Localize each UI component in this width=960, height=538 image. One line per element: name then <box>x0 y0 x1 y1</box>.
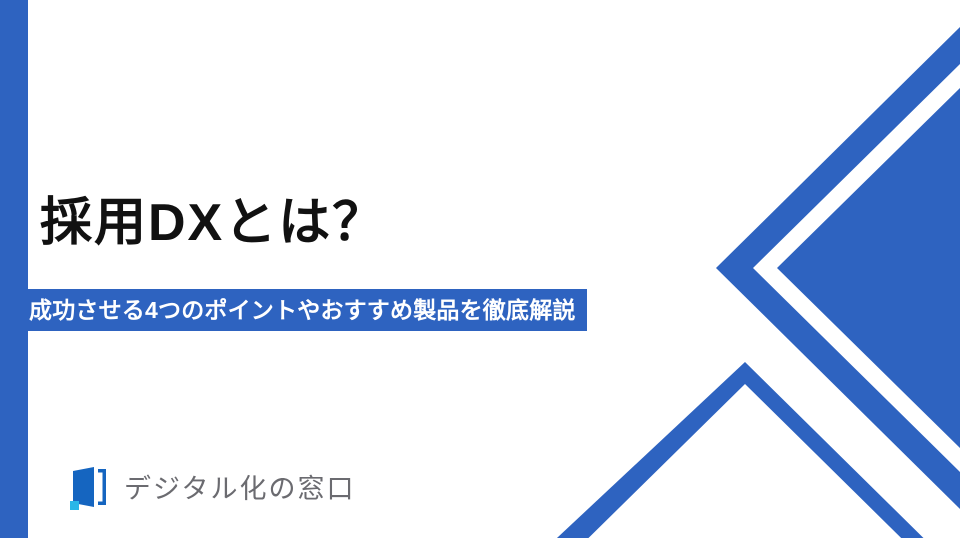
left-accent-bar <box>0 0 28 538</box>
brand-name: デジタル化の窓口 <box>124 473 355 505</box>
page-subtitle: 成功させる4つのポイントやおすすめ製品を徹底解説 <box>29 289 576 331</box>
chevron-outline-shape <box>542 362 960 538</box>
slide-canvas: 採用DXとは？ 成功させる4つのポイントやおすすめ製品を徹底解説 デジタル化の窓… <box>0 0 960 538</box>
diamond-chevron-shape <box>716 27 960 509</box>
page-title: 採用DXとは？ <box>0 186 760 260</box>
decorative-shapes <box>0 0 960 538</box>
title-block: 採用DXとは？ <box>0 186 760 260</box>
brand-logo: デジタル化の窓口 <box>70 466 355 512</box>
subtitle-band: 成功させる4つのポイントやおすすめ製品を徹底解説 <box>0 289 587 331</box>
open-door-icon <box>70 466 110 512</box>
chevron-notch-shape <box>753 64 960 472</box>
